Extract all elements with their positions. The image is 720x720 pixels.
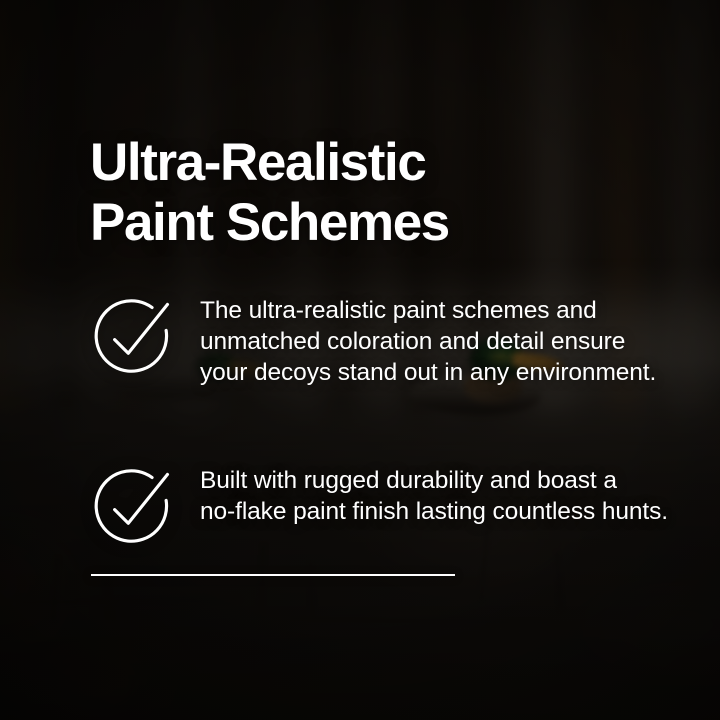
headline: Ultra-Realistic Paint Schemes [90,133,449,253]
circle-check-icon [90,463,178,551]
divider-rule [91,574,455,576]
benefit-item-1: The ultra-realistic paint schemes and un… [90,290,670,388]
card-content: Ultra-Realistic Paint Schemes The ultra-… [0,0,720,720]
benefit-list: The ultra-realistic paint schemes and un… [90,290,670,551]
promo-card: Ultra-Realistic Paint Schemes The ultra-… [0,0,720,720]
benefit-text-2: Built with rugged durability and boast a… [200,460,668,527]
benefit-item-2: Built with rugged durability and boast a… [90,460,670,551]
circle-check-icon [90,293,178,381]
benefit-text-1: The ultra-realistic paint schemes and un… [200,290,656,388]
